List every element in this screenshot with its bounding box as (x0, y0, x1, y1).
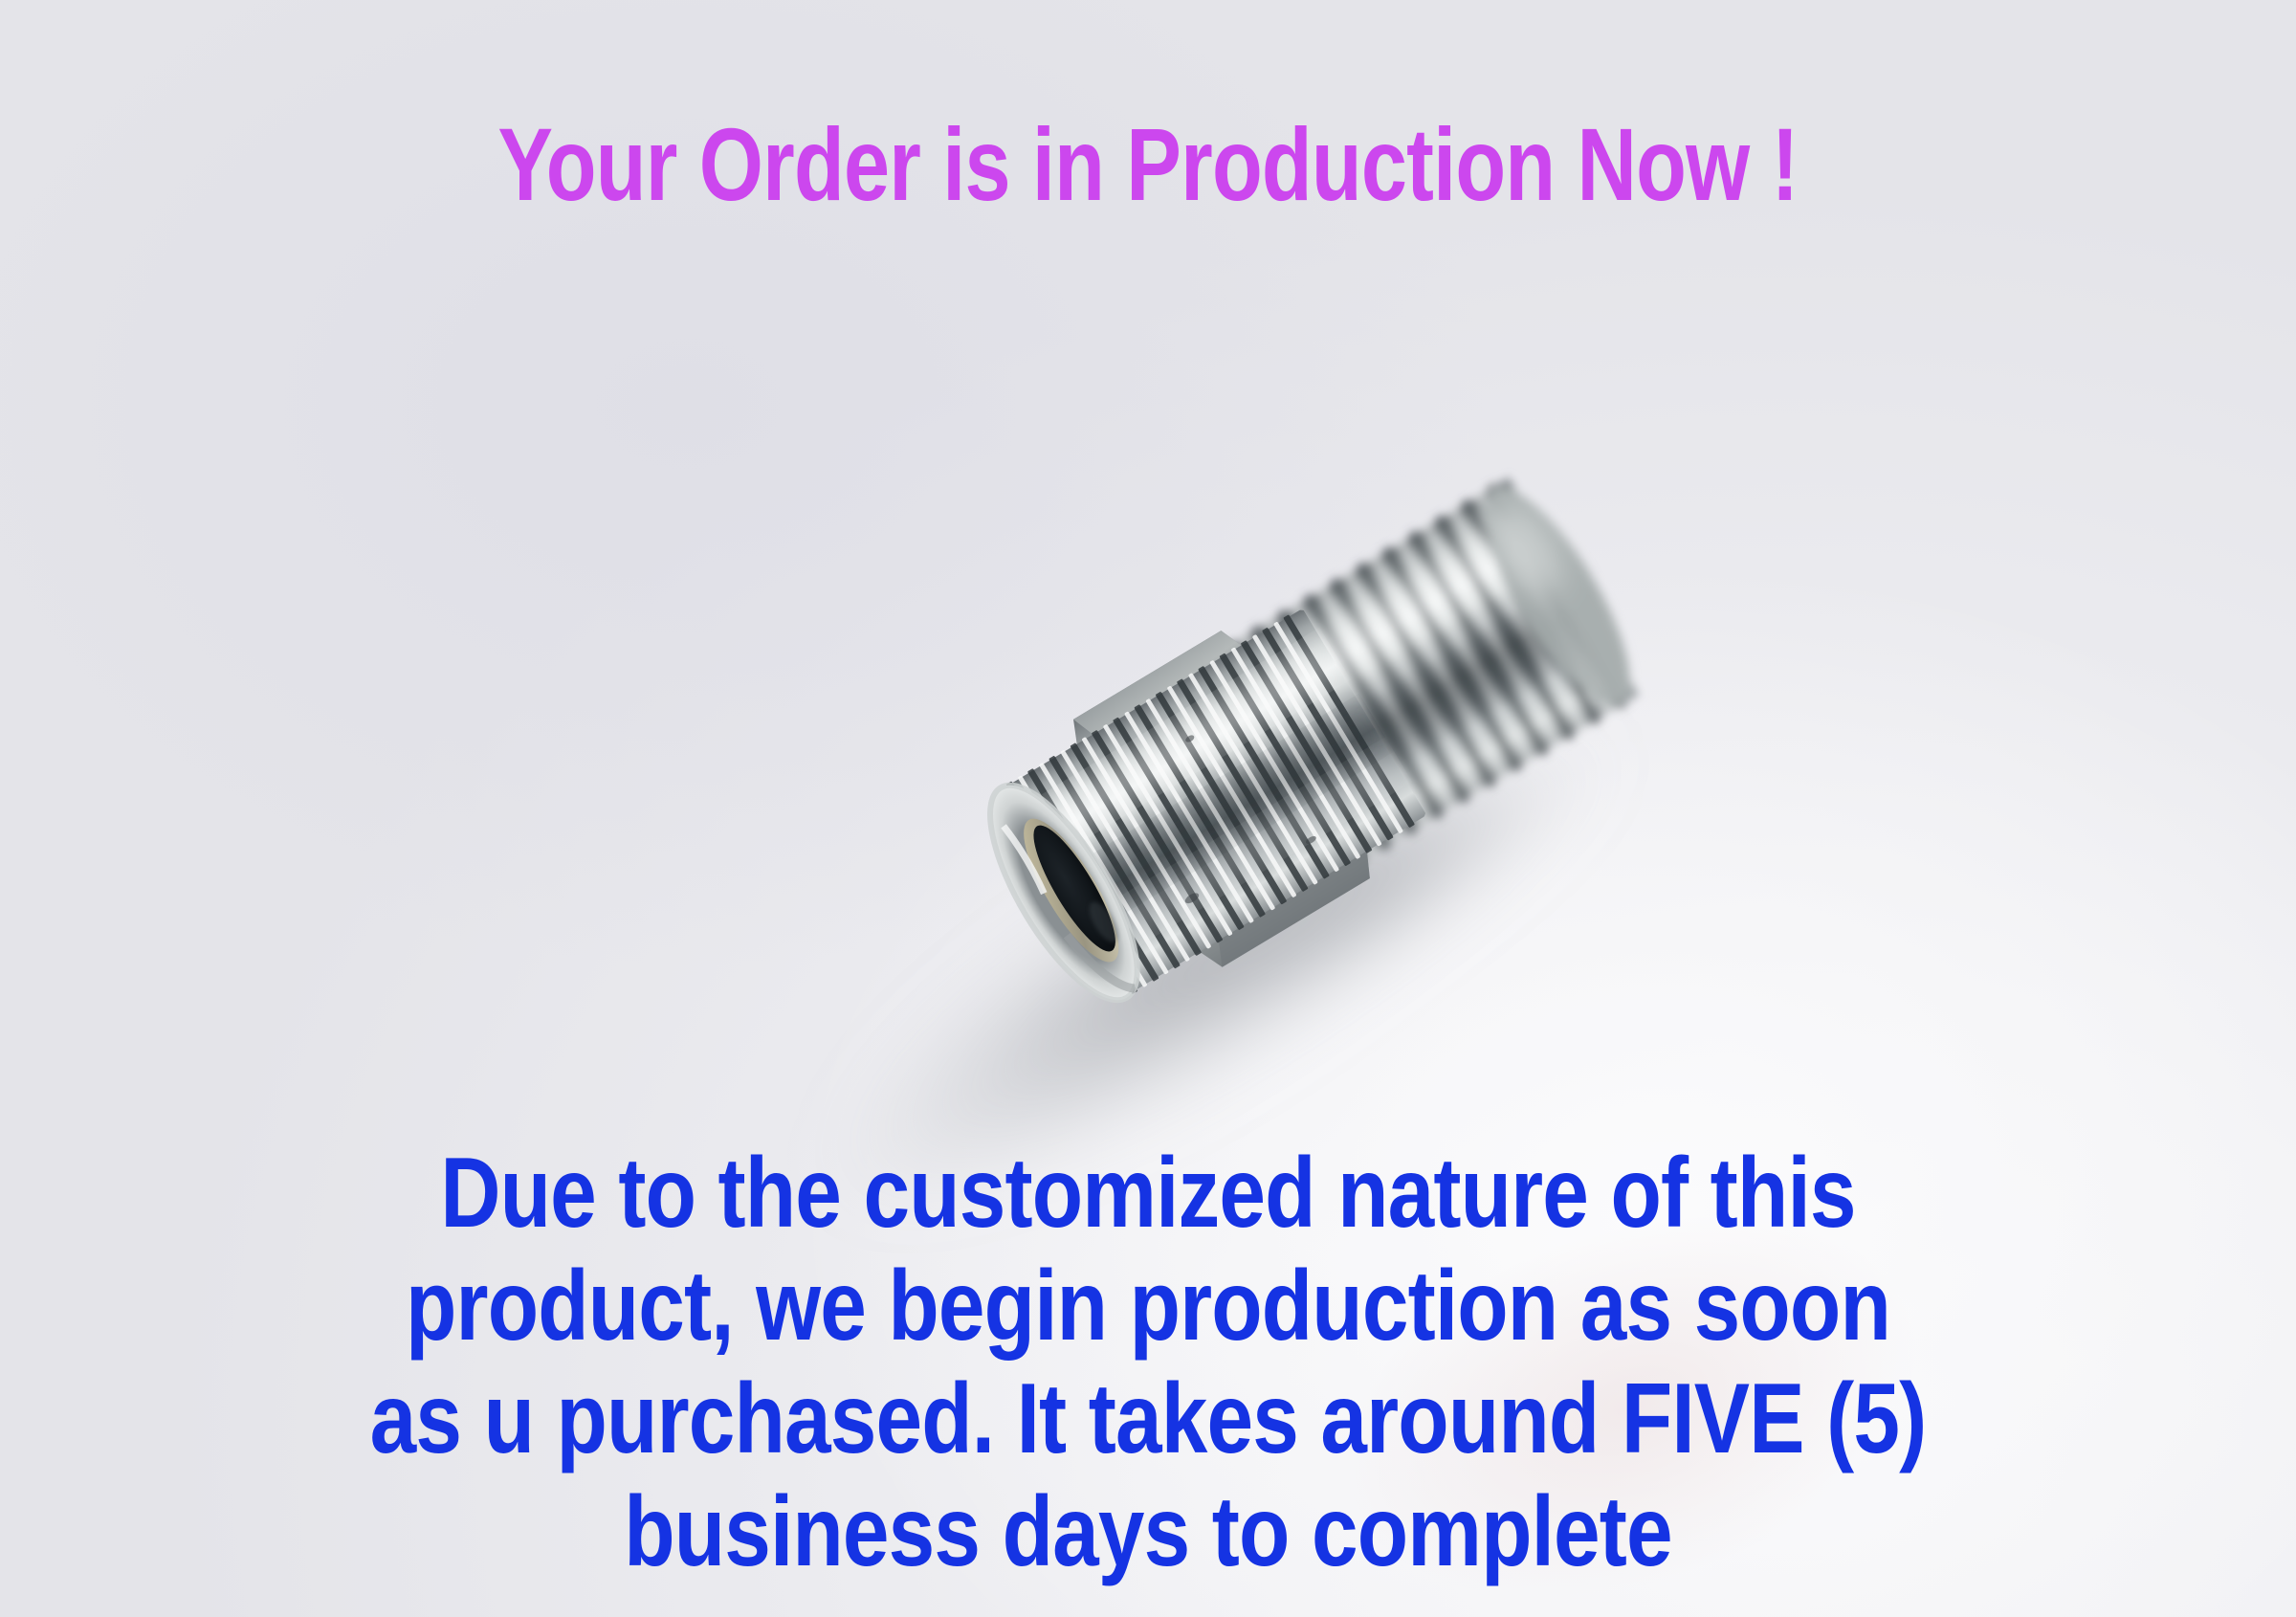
notice-line-1: Due to the customized nature of this (184, 1137, 2112, 1250)
notice-line-2: product, we begin production as soon (184, 1250, 2112, 1362)
hex-flats (1050, 617, 1393, 981)
hex-nipple-body (952, 453, 1667, 1040)
notice-line-4: business days to complete (184, 1475, 2112, 1588)
nipple-end-face (962, 765, 1164, 1021)
promotional-banner: Your Order is in Production Now ! Due to… (0, 0, 2296, 1617)
near-threaded-barrel (962, 607, 1427, 1020)
page-title: Your Order is in Production Now ! (230, 113, 2066, 216)
nipple-bore (1021, 816, 1129, 961)
notice-line-3: as u purchased. It takes around FIVE (5) (184, 1362, 2112, 1475)
production-notice-text: Due to the customized nature of this pro… (184, 1137, 2112, 1588)
